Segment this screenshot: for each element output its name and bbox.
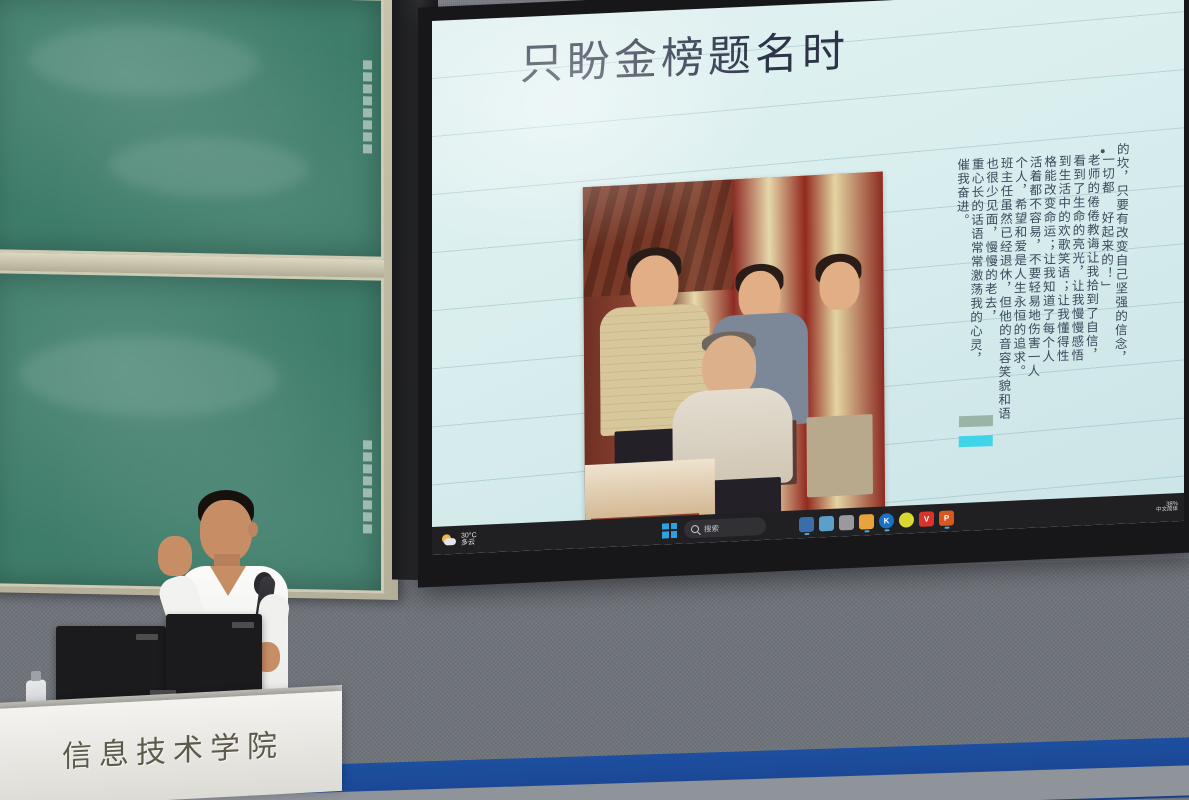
- app-icon-edge[interactable]: [819, 515, 834, 531]
- taskbar-system-tray[interactable]: 38% 中文简体: [1156, 501, 1178, 514]
- app-icon-v[interactable]: V: [919, 511, 934, 527]
- taskbar-search-box[interactable]: 搜索: [684, 517, 766, 539]
- app-icon-explorer[interactable]: [799, 516, 814, 532]
- board-side-marks: [363, 60, 373, 153]
- presenter-head: [200, 500, 252, 562]
- weather-widget[interactable]: 30°C 多云: [442, 532, 477, 549]
- monitor-brand-mark: [136, 634, 158, 640]
- monitor-brand-mark: [232, 622, 254, 628]
- taskbar-app-icons: K V P: [799, 510, 954, 532]
- slide-vertical-text: 的坎，只要有改变自己坚强的信念， 一切都 好起来的！」 老师的倦倦教诲让我拾到了…: [952, 142, 1129, 496]
- lecture-hall-scene: 只盼金榜题名时: [0, 0, 1189, 800]
- app-icon-browser[interactable]: [899, 512, 914, 528]
- presenter-gesturing-hand: [158, 536, 192, 576]
- projection-screen-surface[interactable]: 只盼金榜题名时: [432, 0, 1184, 555]
- app-icon-folder[interactable]: [859, 513, 874, 529]
- weather-condition: 多云: [461, 539, 477, 547]
- sage-highlight: [959, 415, 993, 427]
- chalk-smudge: [109, 135, 309, 199]
- chalk-smudge: [29, 24, 259, 98]
- slide-title: 只盼金榜题名时: [520, 17, 849, 92]
- slide-photograph: [583, 172, 885, 540]
- projection-screen-bezel[interactable]: 只盼金榜题名时: [418, 0, 1189, 588]
- app-icon-powerpoint[interactable]: P: [939, 510, 954, 526]
- search-icon: [691, 525, 699, 533]
- app-icon-window[interactable]: [839, 514, 854, 530]
- photo-person-right: [797, 252, 883, 496]
- cyan-highlight: [959, 435, 993, 447]
- chalk-smudge: [19, 334, 279, 419]
- board-side-marks: [363, 440, 373, 533]
- windows-start-icon[interactable]: [662, 522, 677, 538]
- presenter-ear: [248, 522, 258, 537]
- chalkboard-upper-panel: [0, 0, 384, 260]
- search-placeholder-text: 搜索: [704, 522, 719, 534]
- partly-cloudy-icon: [442, 532, 457, 548]
- ime-indicator: 中文简体: [1156, 507, 1178, 514]
- app-icon-wps[interactable]: K: [879, 513, 894, 529]
